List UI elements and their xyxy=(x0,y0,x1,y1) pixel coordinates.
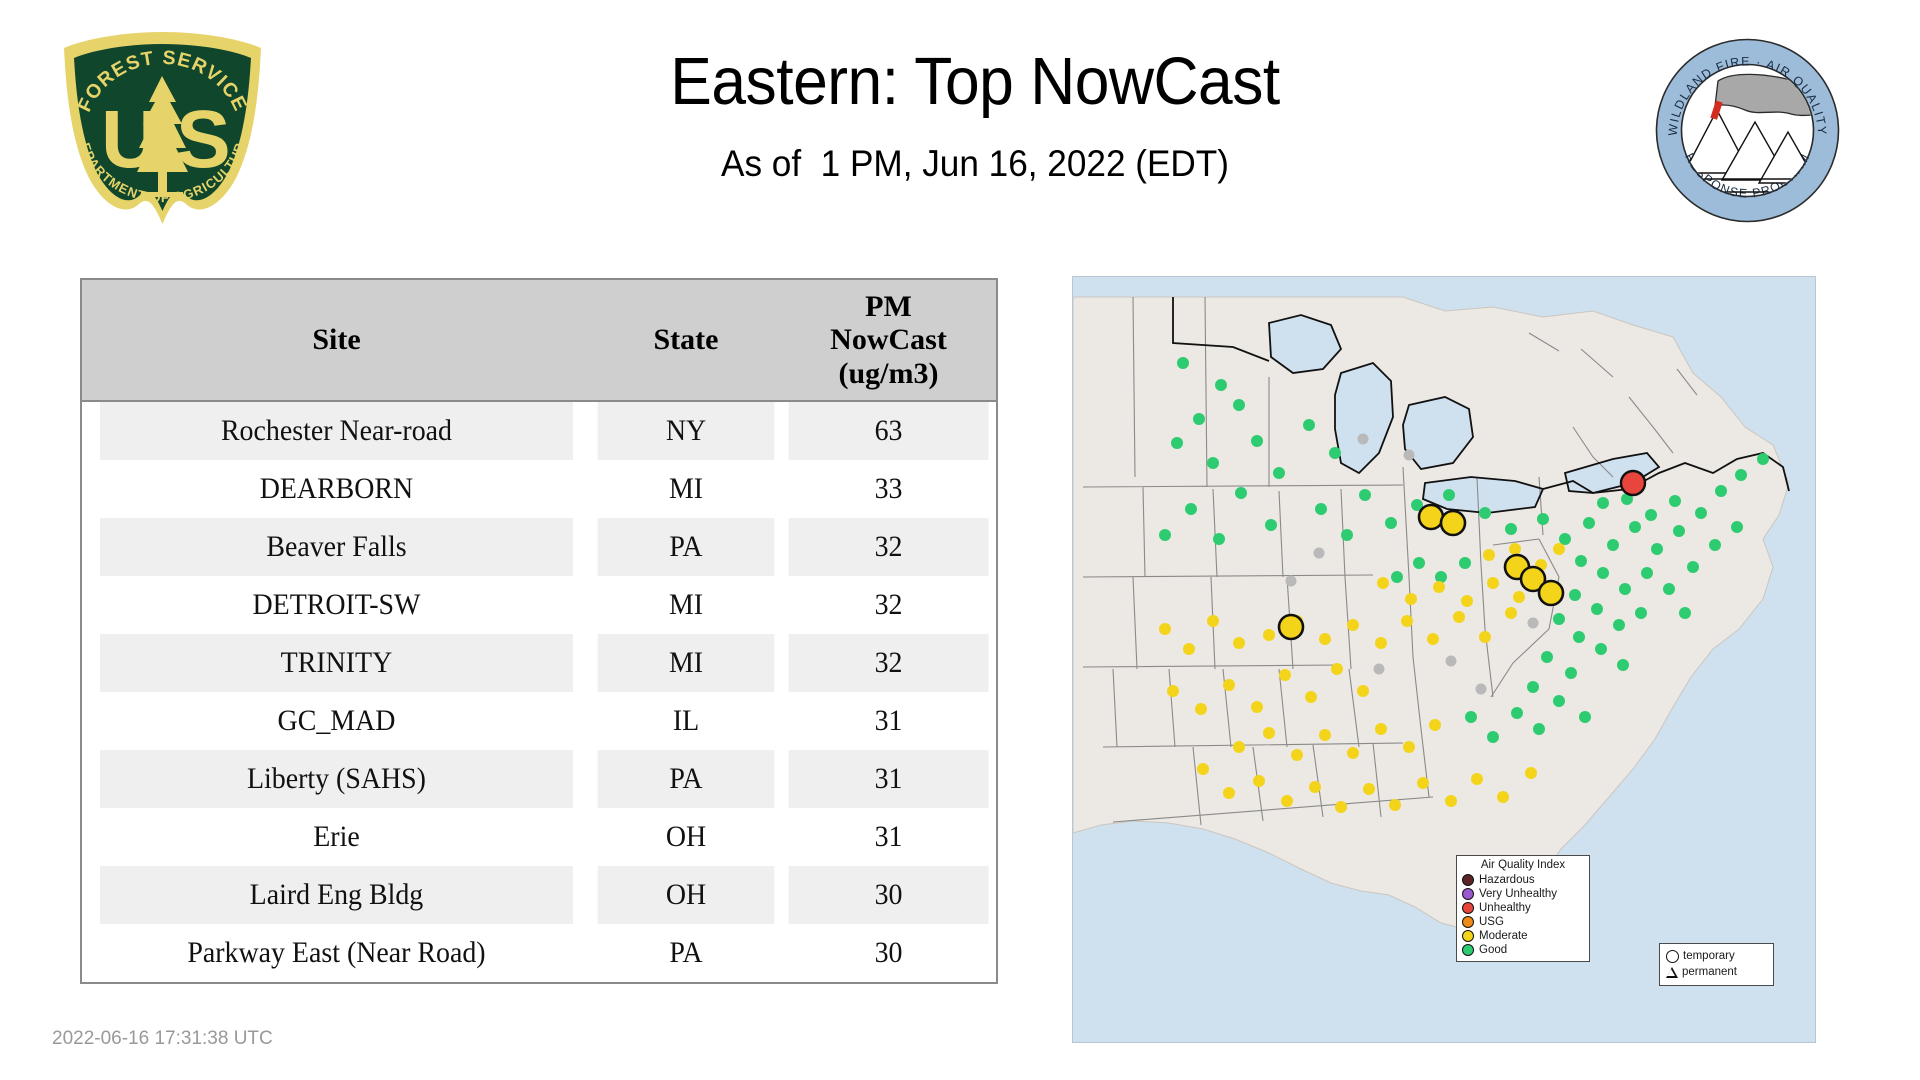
aqi-legend-label: Hazardous xyxy=(1479,873,1535,887)
symbol-legend: temporary permanent xyxy=(1659,943,1774,986)
table-row: Laird Eng BldgOH30 xyxy=(81,866,997,924)
symbol-legend-row-temporary: temporary xyxy=(1666,948,1769,964)
site-marker-dearborn xyxy=(1419,505,1443,529)
aqi-legend-label: USG xyxy=(1479,915,1504,929)
symbol-legend-row-permanent: permanent xyxy=(1666,964,1769,980)
page-title: Eastern: Top NowCast xyxy=(375,48,1575,115)
value-cell: 30 xyxy=(789,866,990,924)
aqi-legend-row: Very Unhealthy xyxy=(1462,887,1584,901)
aqi-legend-row: Hazardous xyxy=(1462,873,1584,887)
permanent-monitor-icon xyxy=(1666,967,1678,978)
value-cell: 63 xyxy=(789,401,990,460)
aqi-legend-rows: HazardousVery UnhealthyUnhealthyUSGModer… xyxy=(1462,873,1584,957)
site-cell: TRINITY xyxy=(99,634,573,692)
aqi-legend-swatch-icon xyxy=(1462,902,1474,914)
footer-timestamp: 2022-06-16 17:31:38 UTC xyxy=(52,1028,273,1050)
page-header: FOREST SERVICE DEPARTMENT OF AGRICULTURE… xyxy=(0,0,1920,270)
symbol-legend-label-temporary: temporary xyxy=(1683,948,1735,964)
aqi-legend-row: Moderate xyxy=(1462,929,1584,943)
aqi-legend-row: Unhealthy xyxy=(1462,901,1584,915)
value-cell: 31 xyxy=(789,692,990,750)
aqi-legend-swatch-icon xyxy=(1462,944,1474,956)
value-cell: 32 xyxy=(789,634,990,692)
table-body: Rochester Near-roadNY63DEARBORNMI33Beave… xyxy=(81,401,997,983)
aqi-legend-label: Moderate xyxy=(1479,929,1528,943)
top-nowcast-table: Site State PM NowCast (ug/m3) Rochester … xyxy=(80,278,998,984)
page-subtitle: As of 1 PM, Jun 16, 2022 (EDT) xyxy=(362,143,1588,185)
site-cell: DEARBORN xyxy=(99,460,573,518)
value-cell: 31 xyxy=(789,808,990,866)
symbol-legend-label-permanent: permanent xyxy=(1682,964,1737,980)
aqi-legend-label: Very Unhealthy xyxy=(1479,887,1557,901)
table-row: Liberty (SAHS)PA31 xyxy=(81,750,997,808)
state-cell: MI xyxy=(598,576,775,634)
column-header-line-2: NowCast xyxy=(781,323,996,357)
table-row: DEARBORNMI33 xyxy=(81,460,997,518)
title-block: Eastern: Top NowCast As of 1 PM, Jun 16,… xyxy=(330,48,1620,185)
column-header-state: State xyxy=(591,279,781,401)
aqi-legend-row: USG xyxy=(1462,915,1584,929)
aqi-legend-row: Good xyxy=(1462,943,1584,957)
column-header-pm-nowcast: PM NowCast (ug/m3) xyxy=(781,279,997,401)
state-cell: OH xyxy=(598,866,775,924)
site-marker-liberty-sahs xyxy=(1539,581,1563,605)
state-cell: OH xyxy=(598,808,775,866)
state-cell: PA xyxy=(598,924,775,983)
value-cell: 30 xyxy=(789,924,990,983)
table-header-row: Site State PM NowCast (ug/m3) xyxy=(81,279,997,401)
state-cell: PA xyxy=(598,518,775,576)
state-cell: PA xyxy=(598,750,775,808)
value-cell: 32 xyxy=(789,576,990,634)
wildland-fire-air-quality-badge-icon: WILDLAND FIRE · AIR QUALITY RESPONSE PRO… xyxy=(1655,38,1840,223)
aqi-legend-label: Unhealthy xyxy=(1479,901,1531,915)
site-cell: DETROIT-SW xyxy=(99,576,573,634)
aqi-legend-swatch-icon xyxy=(1462,874,1474,886)
site-cell: Liberty (SAHS) xyxy=(99,750,573,808)
aqi-legend: Air Quality Index HazardousVery Unhealth… xyxy=(1456,855,1590,962)
site-cell: Laird Eng Bldg xyxy=(99,866,573,924)
site-cell: GC_MAD xyxy=(99,692,573,750)
site-marker-gc-mad xyxy=(1279,615,1303,639)
column-header-site: Site xyxy=(81,279,591,401)
table-row: DETROIT-SWMI32 xyxy=(81,576,997,634)
value-cell: 33 xyxy=(789,460,990,518)
us-forest-service-shield-icon: FOREST SERVICE DEPARTMENT OF AGRICULTURE… xyxy=(55,28,270,228)
state-cell: NY xyxy=(598,401,775,460)
column-header-line-3: (ug/m3) xyxy=(781,357,996,391)
air-quality-monitor-map[interactable]: Air Quality Index HazardousVery Unhealth… xyxy=(1072,276,1816,1043)
table-row: Beaver FallsPA32 xyxy=(81,518,997,576)
site-cell: Rochester Near-road xyxy=(99,401,573,460)
site-cell: Parkway East (Near Road) xyxy=(99,924,573,983)
site-cell: Erie xyxy=(99,808,573,866)
table-row: TRINITYMI32 xyxy=(81,634,997,692)
state-cell: MI xyxy=(598,634,775,692)
site-marker-detroit-sw xyxy=(1441,511,1465,535)
table-row: Rochester Near-roadNY63 xyxy=(81,401,997,460)
value-cell: 32 xyxy=(789,518,990,576)
table-row: GC_MADIL31 xyxy=(81,692,997,750)
table-row: ErieOH31 xyxy=(81,808,997,866)
aqi-legend-title: Air Quality Index xyxy=(1462,859,1584,871)
site-marker-rochester-near-road xyxy=(1621,471,1645,495)
value-cell: 31 xyxy=(789,750,990,808)
aqi-legend-swatch-icon xyxy=(1462,888,1474,900)
aqi-legend-swatch-icon xyxy=(1462,930,1474,942)
aqi-legend-label: Good xyxy=(1479,943,1507,957)
temporary-monitor-icon xyxy=(1666,950,1679,963)
site-cell: Beaver Falls xyxy=(99,518,573,576)
top-nowcast-table-wrapper: Site State PM NowCast (ug/m3) Rochester … xyxy=(80,278,996,984)
table-row: Parkway East (Near Road)PA30 xyxy=(81,924,997,983)
state-cell: MI xyxy=(598,460,775,518)
column-header-line-1: PM xyxy=(781,290,996,324)
aqi-legend-swatch-icon xyxy=(1462,916,1474,928)
map-canvas xyxy=(1073,277,1815,1042)
state-cell: IL xyxy=(598,692,775,750)
